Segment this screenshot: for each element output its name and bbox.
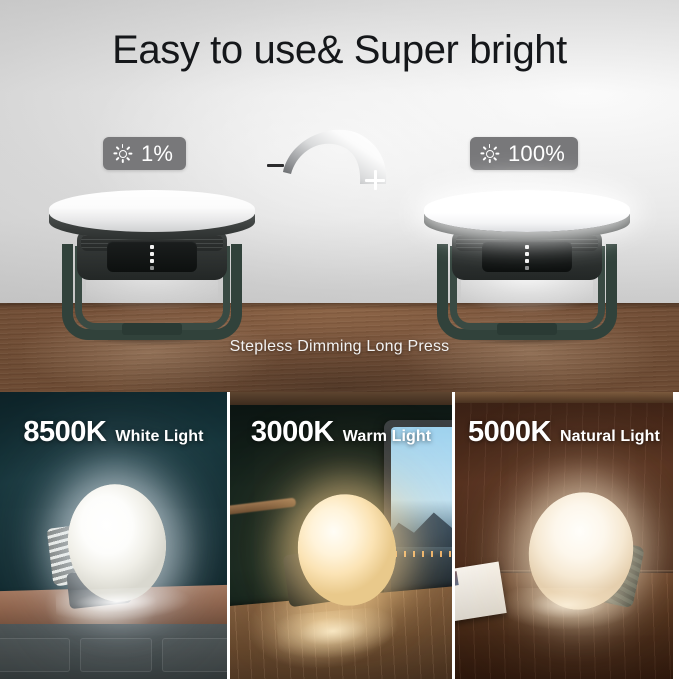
panel-warm-light: 3000K Warm Light — [227, 392, 455, 679]
tablet-screen — [391, 427, 455, 593]
lantern-control-panel — [107, 241, 197, 272]
dimmer-decrease-icon — [267, 164, 284, 167]
dimmer-increase-icon — [365, 170, 385, 190]
page-title: Easy to use& Super bright — [0, 28, 679, 73]
panel-white-light: 8500K White Light — [0, 392, 227, 679]
lantern-diffuser — [49, 190, 255, 232]
color-temperature-panels: 8500K White Light 3000K W — [0, 392, 679, 679]
brightness-sun-icon — [480, 144, 499, 163]
lantern-left — [46, 190, 258, 345]
panel-natural-light: 5000K Natural Light — [455, 392, 673, 679]
light-pool — [55, 585, 206, 624]
brightness-badge-low-value: 1% — [141, 143, 173, 165]
kitchen-cabinets — [0, 624, 227, 679]
brightness-badge-low: 1% — [103, 137, 186, 170]
lantern-diffuser — [424, 190, 630, 232]
battery-led-indicator — [525, 245, 529, 268]
brightness-badge-high-value: 100% — [508, 143, 565, 165]
battery-led-indicator — [150, 245, 154, 268]
hero-caption: Stepless Dimming Long Press — [0, 338, 679, 356]
product-feature-image: Easy to use& Super bright 1% — [0, 0, 679, 679]
lantern-product-shot — [286, 494, 396, 610]
lantern-foot — [122, 323, 182, 335]
lantern-right — [421, 190, 633, 345]
lantern-foot — [497, 323, 557, 335]
light-pool — [276, 604, 412, 671]
light-pool — [497, 588, 643, 638]
dimming-arc-graphic — [265, 118, 415, 198]
arc-svg — [265, 118, 415, 198]
screen-mountain-photo — [391, 505, 455, 547]
screen-city-lights — [395, 551, 455, 557]
brightness-badge-high: 100% — [470, 137, 578, 170]
brightness-sun-icon — [113, 144, 132, 163]
wall-trim — [455, 392, 673, 403]
hero-section: Easy to use& Super bright 1% — [0, 0, 679, 392]
ceiling-beam — [230, 392, 452, 405]
lantern-control-panel — [482, 241, 572, 272]
